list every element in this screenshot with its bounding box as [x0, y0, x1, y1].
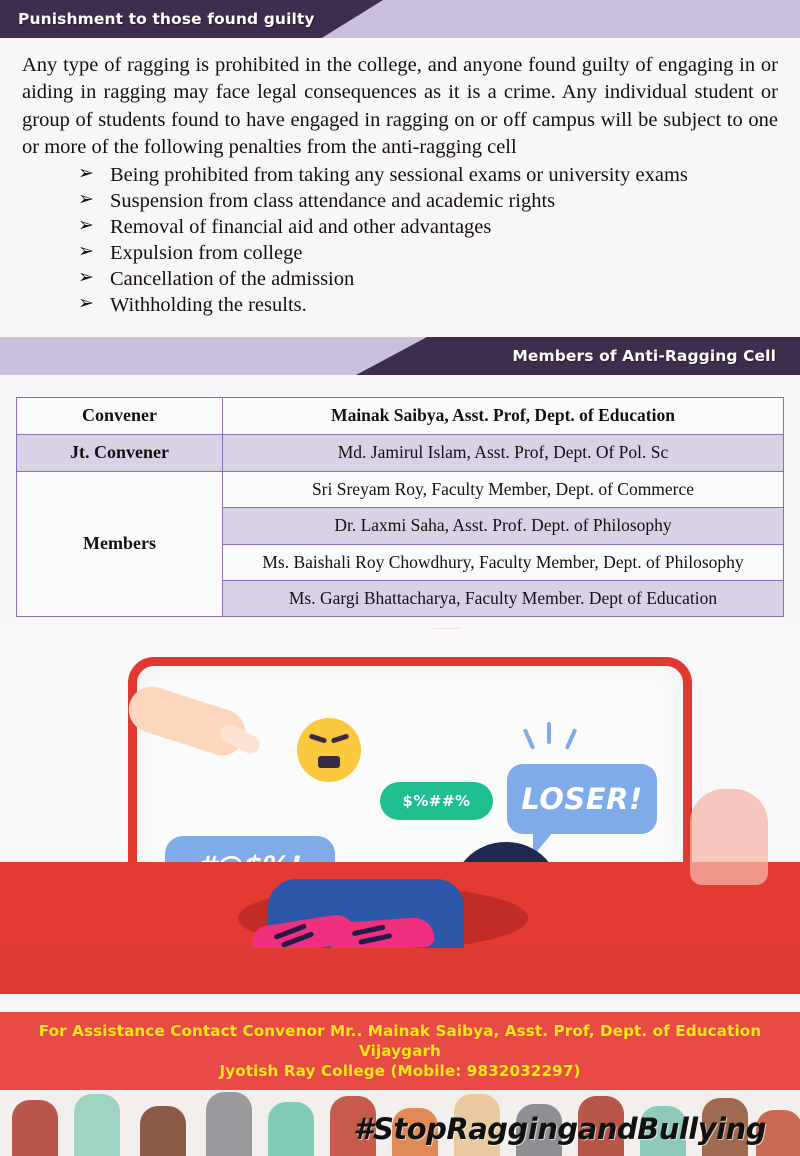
bubble-censored: $%##%: [380, 782, 493, 820]
floor-front-edge: [0, 948, 800, 994]
punishment-banner: Punishment to those found guilty: [0, 0, 800, 38]
member-name-cell: Sri Sreyam Roy, Faculty Member, Dept. of…: [223, 471, 784, 507]
table-row: MembersSri Sreyam Roy, Faculty Member, D…: [17, 471, 784, 507]
hand-silhouette: [74, 1094, 120, 1156]
member-name-cell: Md. Jamirul Islam, Asst. Prof, Dept. Of …: [223, 434, 784, 471]
spark-icon: [547, 722, 551, 744]
penalty-label: Cancellation of the admission: [110, 268, 354, 290]
bullet-arrow-icon: ➢: [78, 266, 94, 289]
members-banner: Members of Anti-Ragging Cell: [0, 337, 800, 375]
hashtag-label: #StopRaggingandBullying: [353, 1112, 766, 1146]
punishment-content: Any type of ragging is prohibited in the…: [0, 38, 800, 318]
bullet-arrow-icon: ➢: [78, 162, 94, 185]
member-role-cell: Convener: [17, 398, 223, 435]
penalty-item: ➢Suspension from class attendance and ac…: [78, 189, 778, 214]
hand-silhouette: [140, 1106, 186, 1156]
member-name-cell: Ms. Baishali Roy Chowdhury, Faculty Memb…: [223, 544, 784, 580]
banner-tab: Punishment to those found guilty: [0, 0, 383, 38]
contact-line-1: For Assistance Contact Convenor Mr.. Mai…: [18, 1021, 782, 1061]
angry-face-yellow-icon: [297, 718, 361, 782]
member-role-cell: Members: [17, 471, 223, 616]
bullet-arrow-icon: ➢: [78, 240, 94, 263]
penalties-list: ➢Being prohibited from taking any sessio…: [22, 163, 778, 318]
member-name-cell: Mainak Saibya, Asst. Prof, Dept. of Educ…: [223, 398, 784, 435]
bullying-illustration: $%##% LOSER! #@$%! UGLY!: [0, 629, 800, 994]
penalty-label: Suspension from class attendance and aca…: [110, 190, 555, 212]
penalty-item: ➢Cancellation of the admission: [78, 267, 778, 292]
members-table-wrap: ConvenerMainak Saibya, Asst. Prof, Dept.…: [0, 375, 800, 617]
hand-silhouette: [268, 1102, 314, 1156]
spark-icon: [565, 728, 578, 750]
member-role-cell: Jt. Convener: [17, 434, 223, 471]
page-title: Punishment to those found guilty: [18, 10, 315, 28]
pointing-hand-icon: [123, 681, 251, 762]
member-name-cell: Dr. Laxmi Saha, Asst. Prof. Dept. of Phi…: [223, 508, 784, 544]
hand-silhouette: [206, 1092, 252, 1156]
bullet-arrow-icon: ➢: [78, 188, 94, 211]
table-row: Jt. ConvenerMd. Jamirul Islam, Asst. Pro…: [17, 434, 784, 471]
poster-page: Say NO to Ragging Punishment to those fo…: [0, 0, 800, 1156]
raised-hand-icon: [690, 789, 768, 885]
bullet-arrow-icon: ➢: [78, 292, 94, 315]
hand-silhouette: [12, 1100, 58, 1156]
members-title: Members of Anti-Ragging Cell: [512, 347, 776, 365]
contact-line-2: Jyotish Ray College (Mobile: 9832032297): [18, 1061, 782, 1081]
penalty-label: Expulsion from college: [110, 242, 302, 264]
penalty-item: ➢Removal of financial aid and other adva…: [78, 215, 778, 240]
penalty-item: ➢Withholding the results.: [78, 293, 778, 318]
penalty-label: Withholding the results.: [110, 294, 307, 316]
bubble-loser: LOSER!: [507, 764, 657, 834]
penalty-label: Removal of financial aid and other advan…: [110, 216, 491, 238]
penalty-item: ➢Expulsion from college: [78, 241, 778, 266]
spark-icon: [523, 728, 536, 750]
penalty-item: ➢Being prohibited from taking any sessio…: [78, 163, 778, 188]
table-row: ConvenerMainak Saibya, Asst. Prof, Dept.…: [17, 398, 784, 435]
banner-tab: Members of Anti-Ragging Cell: [356, 337, 800, 375]
contact-bar: For Assistance Contact Convenor Mr.. Mai…: [0, 1012, 800, 1090]
penalty-label: Being prohibited from taking any session…: [110, 164, 688, 186]
members-table: ConvenerMainak Saibya, Asst. Prof, Dept.…: [16, 397, 784, 617]
bullet-arrow-icon: ➢: [78, 214, 94, 237]
intro-paragraph: Any type of ragging is prohibited in the…: [22, 52, 778, 161]
member-name-cell: Ms. Gargi Bhattacharya, Faculty Member. …: [223, 580, 784, 616]
